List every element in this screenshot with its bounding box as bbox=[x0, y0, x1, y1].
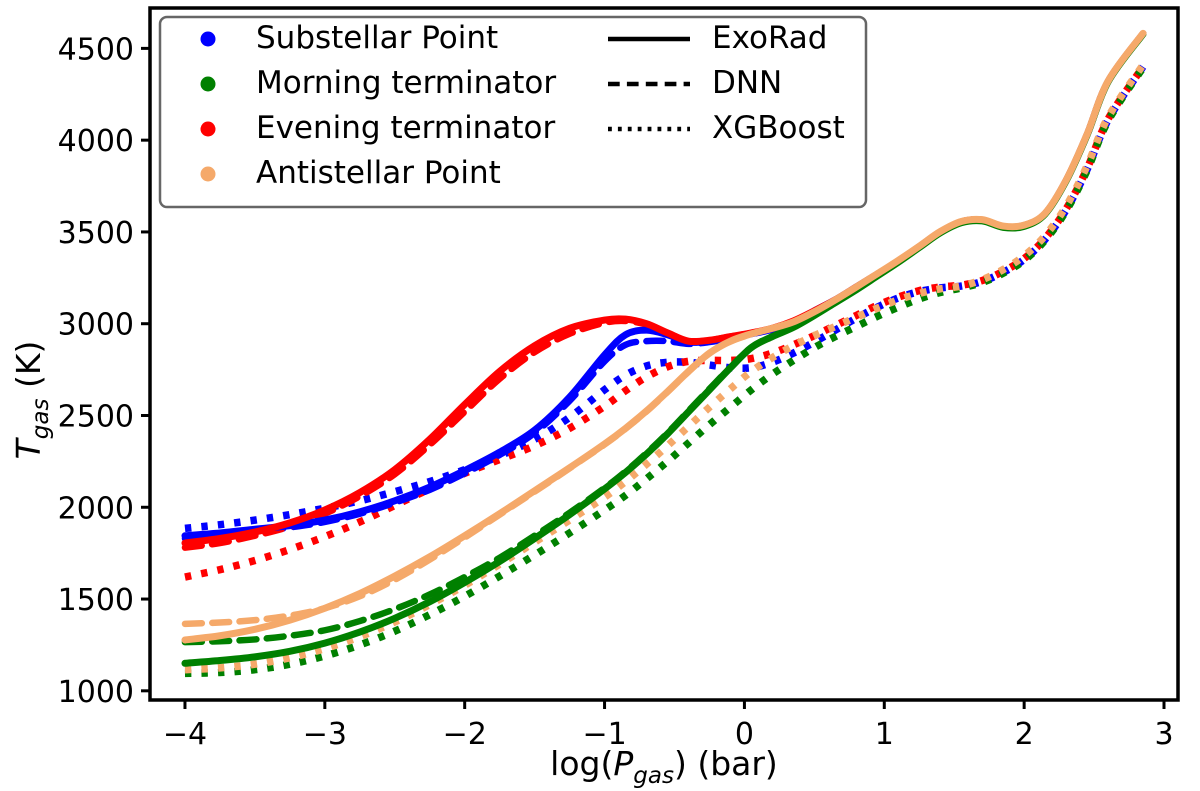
legend-marker-morning-terminator bbox=[201, 77, 216, 92]
x-axis-title-prefix: log( bbox=[550, 744, 613, 783]
legend-label-dnn: DNN bbox=[712, 65, 782, 101]
y-tick-label: 4500 bbox=[58, 32, 134, 67]
legend-label-exorad: ExoRad bbox=[712, 20, 827, 56]
x-tick-label: 2 bbox=[1015, 717, 1034, 752]
x-axis-title-subscript: gas bbox=[633, 763, 674, 789]
y-axis-title-unit: (K) bbox=[9, 341, 48, 399]
x-tick-label: −2 bbox=[443, 717, 487, 752]
y-tick-label: 2500 bbox=[58, 399, 134, 434]
y-tick-label: 1000 bbox=[58, 675, 134, 710]
legend-box: Substellar PointMorning terminatorEvenin… bbox=[160, 17, 866, 207]
x-tick-label: 3 bbox=[1154, 717, 1173, 752]
legend-label-evening-terminator: Evening terminator bbox=[256, 110, 555, 146]
y-tick-label: 2000 bbox=[58, 491, 134, 526]
temperature-pressure-profile-chart: −4−3−2−10123 100015002000250030003500400… bbox=[0, 0, 1200, 791]
y-tick-label: 1500 bbox=[58, 583, 134, 618]
y-tick-label: 3000 bbox=[58, 308, 134, 343]
legend-label-substellar-point: Substellar Point bbox=[256, 20, 498, 56]
legend-label-antistellar-point: Antistellar Point bbox=[256, 155, 501, 191]
x-axis-title: log(Pgas) (bar) bbox=[550, 744, 778, 789]
y-tick-label: 3500 bbox=[58, 216, 134, 251]
y-axis-title: Tgas (K) bbox=[9, 341, 54, 460]
x-tick-label: −3 bbox=[303, 717, 347, 752]
y-axis-title-subscript: gas bbox=[28, 399, 54, 440]
x-axis-ticks: −4−3−2−10123 bbox=[163, 700, 1174, 752]
y-tick-label: 4000 bbox=[58, 124, 134, 159]
legend-marker-antistellar-point bbox=[201, 167, 216, 182]
legend-marker-substellar-point bbox=[201, 32, 216, 47]
legend-label-xgboost: XGBoost bbox=[712, 110, 845, 146]
svg-text:log(Pgas) (bar): log(Pgas) (bar) bbox=[550, 744, 778, 789]
figure-canvas: −4−3−2−10123 100015002000250030003500400… bbox=[0, 0, 1200, 791]
svg-text:Tgas (K): Tgas (K) bbox=[9, 341, 54, 460]
x-axis-title-symbol: P bbox=[613, 744, 633, 783]
legend-label-morning-terminator: Morning terminator bbox=[256, 65, 556, 101]
x-tick-label: 1 bbox=[875, 717, 894, 752]
y-axis-ticks: 10001500200025003000350040004500 bbox=[58, 32, 150, 709]
x-axis-title-suffix: ) (bar) bbox=[674, 744, 778, 783]
legend-marker-evening-terminator bbox=[201, 122, 216, 137]
x-tick-label: −4 bbox=[163, 717, 207, 752]
